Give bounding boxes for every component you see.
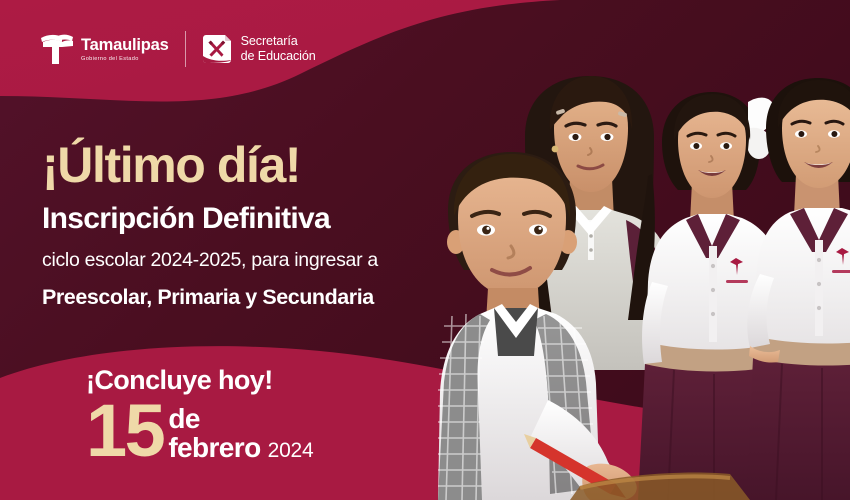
tamaulipas-wordmark: Tamaulipas Gobierno del Estado	[81, 35, 169, 62]
secretaria-wordmark: Secretaría de Educación	[241, 34, 316, 64]
tamaulipas-name: Tamaulipas	[81, 37, 169, 54]
date-day: 15	[86, 401, 163, 462]
month-year-row: febrero 2024	[168, 434, 313, 462]
date-text-group: de febrero 2024	[168, 401, 313, 462]
tamaulipas-logo[interactable]: Tamaulipas Gobierno del Estado	[40, 33, 169, 65]
date-de: de	[168, 405, 313, 433]
tamaulipas-t-wings-icon	[40, 33, 74, 65]
cycle-text: ciclo escolar 2024-2025, para ingresar a	[42, 251, 378, 271]
students-photo-illustration	[430, 70, 850, 500]
levels-text: Preescolar, Primaria y Secundaria	[42, 287, 378, 309]
date-month: febrero	[168, 434, 260, 462]
promotional-banner: Tamaulipas Gobierno del Estado Secretarí…	[0, 0, 850, 500]
secretaria-educacion-pencil-icon	[201, 34, 232, 65]
logo-divider	[185, 31, 186, 67]
secretaria-educacion-logo[interactable]: Secretaría de Educación	[201, 34, 316, 65]
secretaria-line2: de Educación	[241, 49, 316, 64]
logo-bar: Tamaulipas Gobierno del Estado Secretarí…	[40, 31, 316, 67]
students-photo	[430, 70, 850, 500]
tamaulipas-subtitle: Gobierno del Estado	[81, 57, 169, 63]
date-row: 15 de febrero 2024	[86, 401, 314, 462]
date-year: 2024	[268, 440, 314, 461]
subheadline: Inscripción Definitiva	[42, 204, 378, 234]
secretaria-line1: Secretaría	[241, 34, 316, 49]
headline: ¡Último día!	[42, 140, 378, 190]
main-copy: ¡Último día! Inscripción Definitiva cicl…	[42, 140, 378, 308]
date-block: ¡Concluye hoy! 15 de febrero 2024	[86, 367, 314, 462]
